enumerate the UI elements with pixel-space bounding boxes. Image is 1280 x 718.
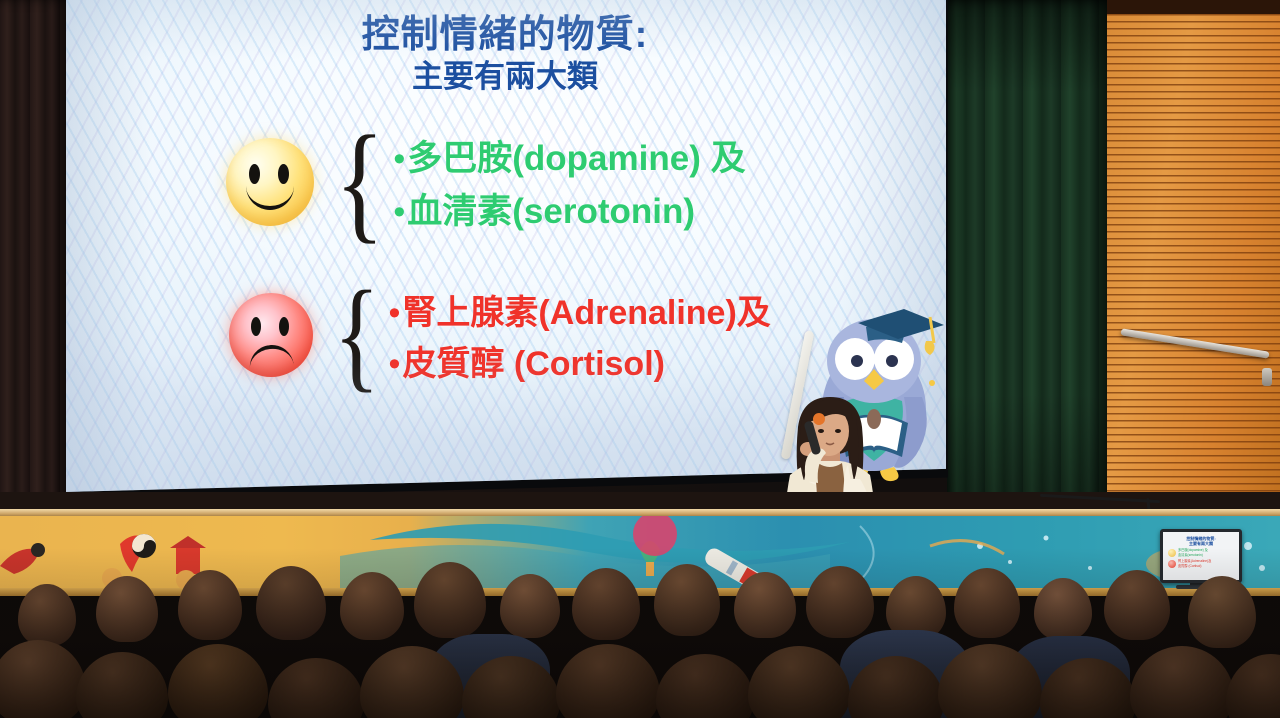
negative-bullet-list: • 腎上腺素(Adrenaline)及 • 皮質醇 (Cortisol) [389, 283, 771, 387]
wall-top-shadow [1101, 0, 1280, 14]
audience-head [572, 568, 640, 640]
audience-head [168, 644, 268, 718]
sad-mouth [248, 343, 295, 375]
sad-eye-left [251, 317, 261, 336]
audience-head [76, 652, 168, 718]
list-item: • 皮質醇 (Cortisol) [389, 336, 771, 385]
bullet-dot: • [393, 142, 405, 176]
curly-brace-positive: { [335, 133, 384, 231]
audience-head [0, 640, 86, 718]
audience-head [414, 562, 486, 638]
bullet-dot: • [393, 195, 405, 229]
happy-mouth [246, 176, 294, 210]
audience-head [734, 572, 796, 638]
list-item: • 腎上腺素(Adrenaline)及 [389, 285, 771, 334]
stage-curtain-left [0, 0, 66, 512]
audience-head [18, 584, 76, 646]
audience-head [500, 574, 560, 638]
audience-head [806, 566, 874, 638]
wood-slat-wall [1101, 0, 1280, 520]
audience-head [268, 658, 364, 718]
bullet-dot: • [389, 296, 401, 330]
slide-title-main: 控制情緒的物質: [64, 14, 946, 57]
audience-head [96, 576, 158, 642]
slide-group-positive: { • 多巴胺(dopamine) 及 • 血清素(serotonin) [226, 128, 746, 236]
slide-title-sub: 主要有兩大類 [64, 59, 946, 96]
audience-head [748, 646, 850, 718]
student-audience [0, 548, 1280, 718]
monitor-title-sub: 主要有兩大類 [1168, 541, 1234, 546]
sad-face-icon [229, 293, 313, 377]
audience-head [556, 644, 660, 718]
list-item: • 多巴胺(dopamine) 及 [393, 130, 745, 181]
audience-head [256, 566, 326, 640]
happy-face-icon [226, 138, 314, 226]
handrail-post [1262, 368, 1272, 386]
audience-head [1034, 578, 1092, 640]
bullet-dot: • [389, 347, 401, 381]
bullet-text: 多巴胺(dopamine) 及 [407, 130, 745, 181]
bullet-text: 血清素(serotonin) [407, 183, 695, 234]
audience-head [1226, 654, 1280, 718]
bullet-text: 腎上腺素(Adrenaline)及 [402, 285, 770, 334]
audience-head [340, 572, 404, 640]
assembly-hall-photo: 控制情緒的物質: 主要有兩大類 { • 多巴胺(dopamine) 及 [0, 0, 1280, 718]
audience-head [954, 568, 1020, 638]
bullet-text: 皮質醇 (Cortisol) [402, 336, 665, 385]
sad-eye-right [279, 317, 289, 336]
list-item: • 血清素(serotonin) [393, 183, 745, 234]
audience-head [654, 564, 720, 636]
audience-head [178, 570, 242, 640]
stage-curtain-right [947, 0, 1107, 517]
audience-head [656, 654, 754, 718]
slide-title-block: 控制情緒的物質: 主要有兩大類 [64, 14, 946, 95]
audience-head [1130, 646, 1234, 718]
slide-group-negative: { • 腎上腺素(Adrenaline)及 • 皮質醇 (Cortisol) [229, 283, 771, 387]
audience-head [1188, 576, 1256, 648]
positive-bullet-list: • 多巴胺(dopamine) 及 • 血清素(serotonin) [393, 128, 745, 236]
curly-brace-negative: { [334, 289, 380, 381]
audience-head [1104, 570, 1170, 640]
